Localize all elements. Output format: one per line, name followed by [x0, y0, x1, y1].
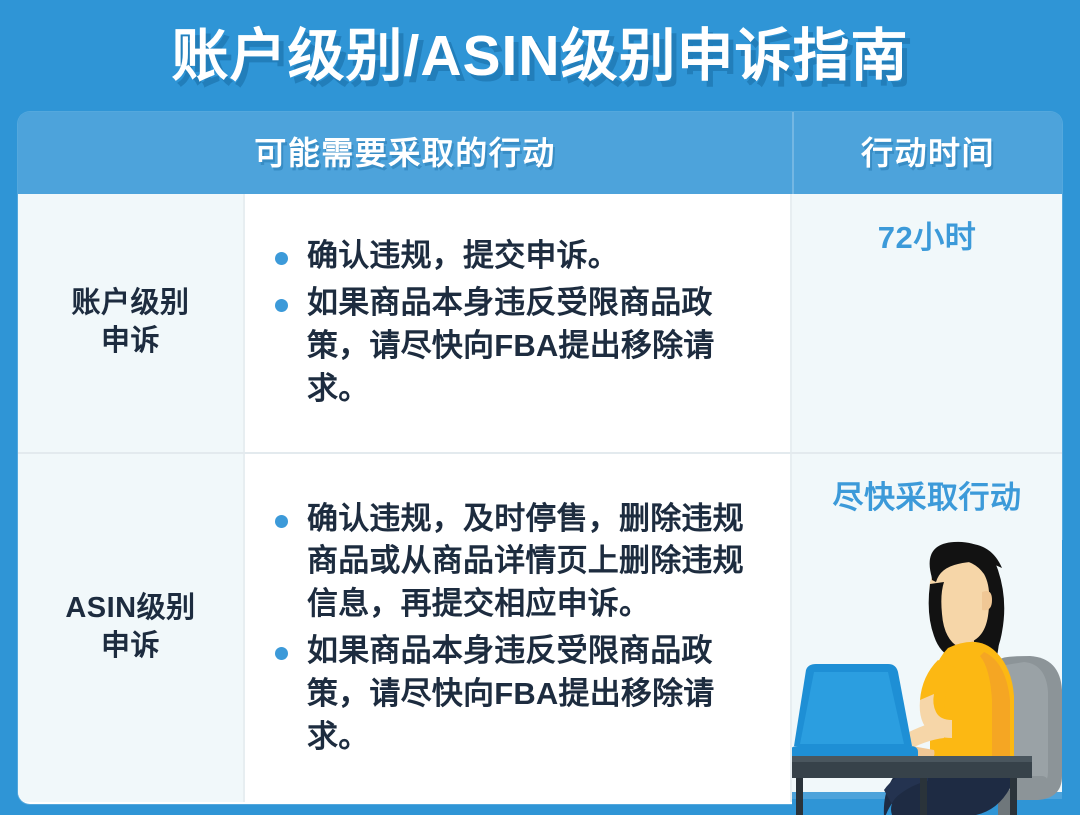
list-item: 如果商品本身违反受限商品政策，请尽快向FBA提出移除请求。	[267, 282, 764, 410]
list-item: 如果商品本身违反受限商品政策，请尽快向FBA提出移除请求。	[267, 630, 764, 758]
row-label-text: ASIN级别 申诉	[65, 590, 195, 665]
action-time-value: 尽快采取行动	[833, 482, 1022, 513]
list-item: 确认违规，提交申诉。	[267, 235, 764, 278]
row-actions-cell: 确认违规，及时停售，删除违规商品或从商品详情页上删除违规信息，再提交相应申诉。 …	[245, 454, 792, 802]
poster-title-bar: 账户级别/ASIN级别申诉指南	[0, 0, 1080, 112]
list-item-text: 如果商品本身违反受限商品政策，请尽快向FBA提出移除请求。	[307, 285, 715, 406]
column-header-time: 行动时间	[792, 112, 1062, 194]
woman-working-on-laptop-illustration	[792, 540, 1080, 815]
bullet-dot-icon	[275, 252, 288, 265]
poster-root: 账户级别/ASIN级别申诉指南 可能需要采取的行动 行动时间 账户级别 申诉	[0, 0, 1080, 815]
row-time-cell: 72小时	[792, 194, 1062, 452]
row-label-line-1: 账户级别	[71, 285, 189, 323]
row-label-line-1: ASIN级别	[65, 590, 195, 628]
page-title: 账户级别/ASIN级别申诉指南	[171, 28, 908, 85]
bullet-dot-icon	[275, 299, 288, 312]
list-item: 确认违规，及时停售，删除违规商品或从商品详情页上删除违规信息，再提交相应申诉。	[267, 498, 764, 626]
list-item-text: 确认违规，提交申诉。	[307, 238, 619, 273]
row-actions-cell: 确认违规，提交申诉。 如果商品本身违反受限商品政策，请尽快向FBA提出移除请求。	[245, 194, 792, 452]
row-label-text: 账户级别 申诉	[71, 285, 189, 360]
bullet-dot-icon	[275, 647, 288, 660]
column-header-action: 可能需要采取的行动	[18, 137, 792, 169]
action-bullet-list: 确认违规，及时停售，删除违规商品或从商品详情页上删除违规信息，再提交相应申诉。 …	[267, 498, 764, 759]
list-item-text: 如果商品本身违反受限商品政策，请尽快向FBA提出移除请求。	[307, 633, 715, 754]
row-label-line-2: 申诉	[65, 628, 195, 666]
action-bullet-list: 确认违规，提交申诉。 如果商品本身违反受限商品政策，请尽快向FBA提出移除请求。	[267, 235, 764, 410]
bullet-dot-icon	[275, 515, 288, 528]
row-label-line-2: 申诉	[71, 323, 189, 361]
table-row: 账户级别 申诉 确认违规，提交申诉。 如果商品本身违反受限商品政策，请尽快向FB…	[18, 194, 1062, 454]
action-time-value: 72小时	[878, 222, 976, 253]
row-label-account-level: 账户级别 申诉	[18, 194, 245, 452]
row-label-asin-level: ASIN级别 申诉	[18, 454, 245, 802]
table-header-row: 可能需要采取的行动 行动时间	[18, 112, 1062, 194]
list-item-text: 确认违规，及时停售，删除违规商品或从商品详情页上删除违规信息，再提交相应申诉。	[307, 501, 744, 622]
